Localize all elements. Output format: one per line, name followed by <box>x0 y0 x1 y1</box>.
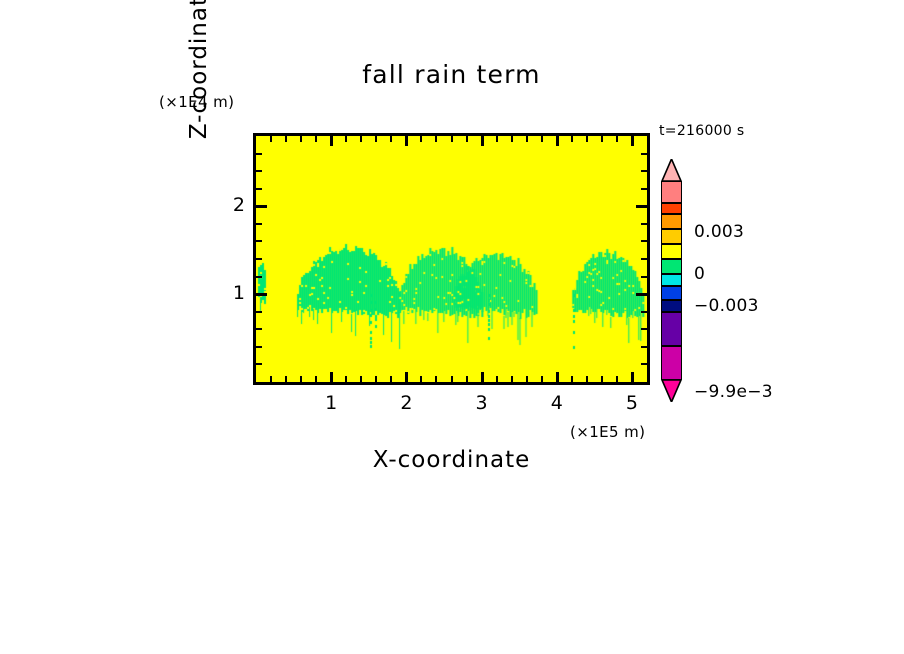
x-tick-label: 3 <box>462 392 502 414</box>
tick-mark <box>636 293 647 296</box>
colorbar-band <box>661 244 682 259</box>
tick-mark <box>256 311 262 313</box>
tick-mark <box>270 136 272 142</box>
colorbar-band <box>661 203 682 214</box>
colorbar-under-arrow <box>661 380 682 402</box>
colorbar-band <box>661 312 682 346</box>
tick-mark <box>541 136 543 142</box>
tick-mark <box>481 372 484 382</box>
tick-mark <box>556 372 559 382</box>
colorbar-band <box>661 300 682 312</box>
x-axis-title: X-coordinate <box>253 447 650 473</box>
tick-mark <box>466 136 468 142</box>
timestamp-annotation: t=216000 s <box>659 123 744 139</box>
tick-mark <box>345 376 347 382</box>
colorbar <box>661 181 682 385</box>
tick-mark <box>256 153 262 155</box>
tick-mark <box>360 376 362 382</box>
tick-mark <box>481 136 484 146</box>
y-axis-title: Z-coordinate <box>186 0 212 160</box>
tick-mark <box>390 136 392 142</box>
tick-mark <box>641 346 647 348</box>
tick-mark <box>256 346 262 348</box>
tick-mark <box>270 376 272 382</box>
tick-mark <box>641 223 647 225</box>
tick-mark <box>375 136 377 142</box>
tick-mark <box>345 136 347 142</box>
tick-mark <box>256 188 262 190</box>
tick-mark <box>405 136 408 146</box>
x-tick-label: 1 <box>311 392 351 414</box>
tick-mark <box>435 136 437 142</box>
figure-canvas: fall rain term (×1E4 m) (×1E5 m) t=21600… <box>0 0 904 654</box>
colorbar-band <box>661 214 682 229</box>
tick-mark <box>641 170 647 172</box>
tick-mark <box>541 376 543 382</box>
colorbar-band <box>661 181 682 203</box>
colorbar-tick-label: −9.9e−3 <box>694 382 773 402</box>
tick-mark <box>435 376 437 382</box>
tick-mark <box>526 136 528 142</box>
tick-mark <box>405 372 408 382</box>
tick-mark <box>556 136 559 146</box>
tick-mark <box>641 188 647 190</box>
colorbar-band <box>661 274 682 286</box>
tick-mark <box>256 223 262 225</box>
tick-mark <box>420 136 422 142</box>
tick-mark <box>256 276 262 278</box>
tick-mark <box>631 136 634 146</box>
tick-mark <box>256 205 267 208</box>
tick-mark <box>641 153 647 155</box>
colorbar-band <box>661 259 682 274</box>
colorbar-band <box>661 229 682 244</box>
tick-mark <box>631 372 634 382</box>
colorbar-band <box>661 346 682 380</box>
x-tick-label: 5 <box>612 392 652 414</box>
tick-mark <box>641 363 647 365</box>
tick-mark <box>636 205 647 208</box>
tick-mark <box>451 376 453 382</box>
x-axis-unit-label: (×1E5 m) <box>570 423 645 441</box>
tick-mark <box>641 311 647 313</box>
tick-mark <box>586 376 588 382</box>
tick-mark <box>256 258 262 260</box>
colorbar-band <box>661 286 682 300</box>
colorbar-tick-label: 0.003 <box>694 222 744 242</box>
tick-mark <box>360 136 362 142</box>
tick-mark <box>511 376 513 382</box>
tick-mark <box>285 136 287 142</box>
tick-mark <box>571 376 573 382</box>
tick-mark <box>641 276 647 278</box>
tick-mark <box>390 376 392 382</box>
tick-mark <box>375 376 377 382</box>
y-tick-label: 2 <box>205 194 245 216</box>
tick-mark <box>641 328 647 330</box>
tick-mark <box>571 136 573 142</box>
tick-mark <box>496 376 498 382</box>
tick-mark <box>330 136 333 146</box>
tick-mark <box>586 136 588 142</box>
tick-mark <box>315 376 317 382</box>
colorbar-tick-label: −0.003 <box>694 296 759 316</box>
tick-mark <box>315 136 317 142</box>
page-title: fall rain term <box>253 60 650 89</box>
tick-mark <box>526 376 528 382</box>
tick-mark <box>330 372 333 382</box>
tick-mark <box>496 136 498 142</box>
plot-area <box>253 133 650 385</box>
tick-mark <box>641 240 647 242</box>
tick-mark <box>300 376 302 382</box>
heatmap-canvas <box>256 136 647 382</box>
tick-mark <box>256 170 262 172</box>
tick-mark <box>256 240 262 242</box>
tick-mark <box>601 136 603 142</box>
x-tick-label: 4 <box>537 392 577 414</box>
tick-mark <box>256 363 262 365</box>
tick-mark <box>641 258 647 260</box>
colorbar-tick-label: 0 <box>694 264 705 284</box>
tick-mark <box>285 376 287 382</box>
tick-mark <box>451 136 453 142</box>
tick-mark <box>466 376 468 382</box>
tick-mark <box>511 136 513 142</box>
tick-mark <box>616 136 618 142</box>
tick-mark <box>300 136 302 142</box>
colorbar-over-arrow <box>661 159 682 181</box>
y-tick-label: 1 <box>205 282 245 304</box>
tick-mark <box>601 376 603 382</box>
x-tick-label: 2 <box>386 392 426 414</box>
tick-mark <box>420 376 422 382</box>
tick-mark <box>616 376 618 382</box>
tick-mark <box>256 328 262 330</box>
tick-mark <box>256 293 267 296</box>
